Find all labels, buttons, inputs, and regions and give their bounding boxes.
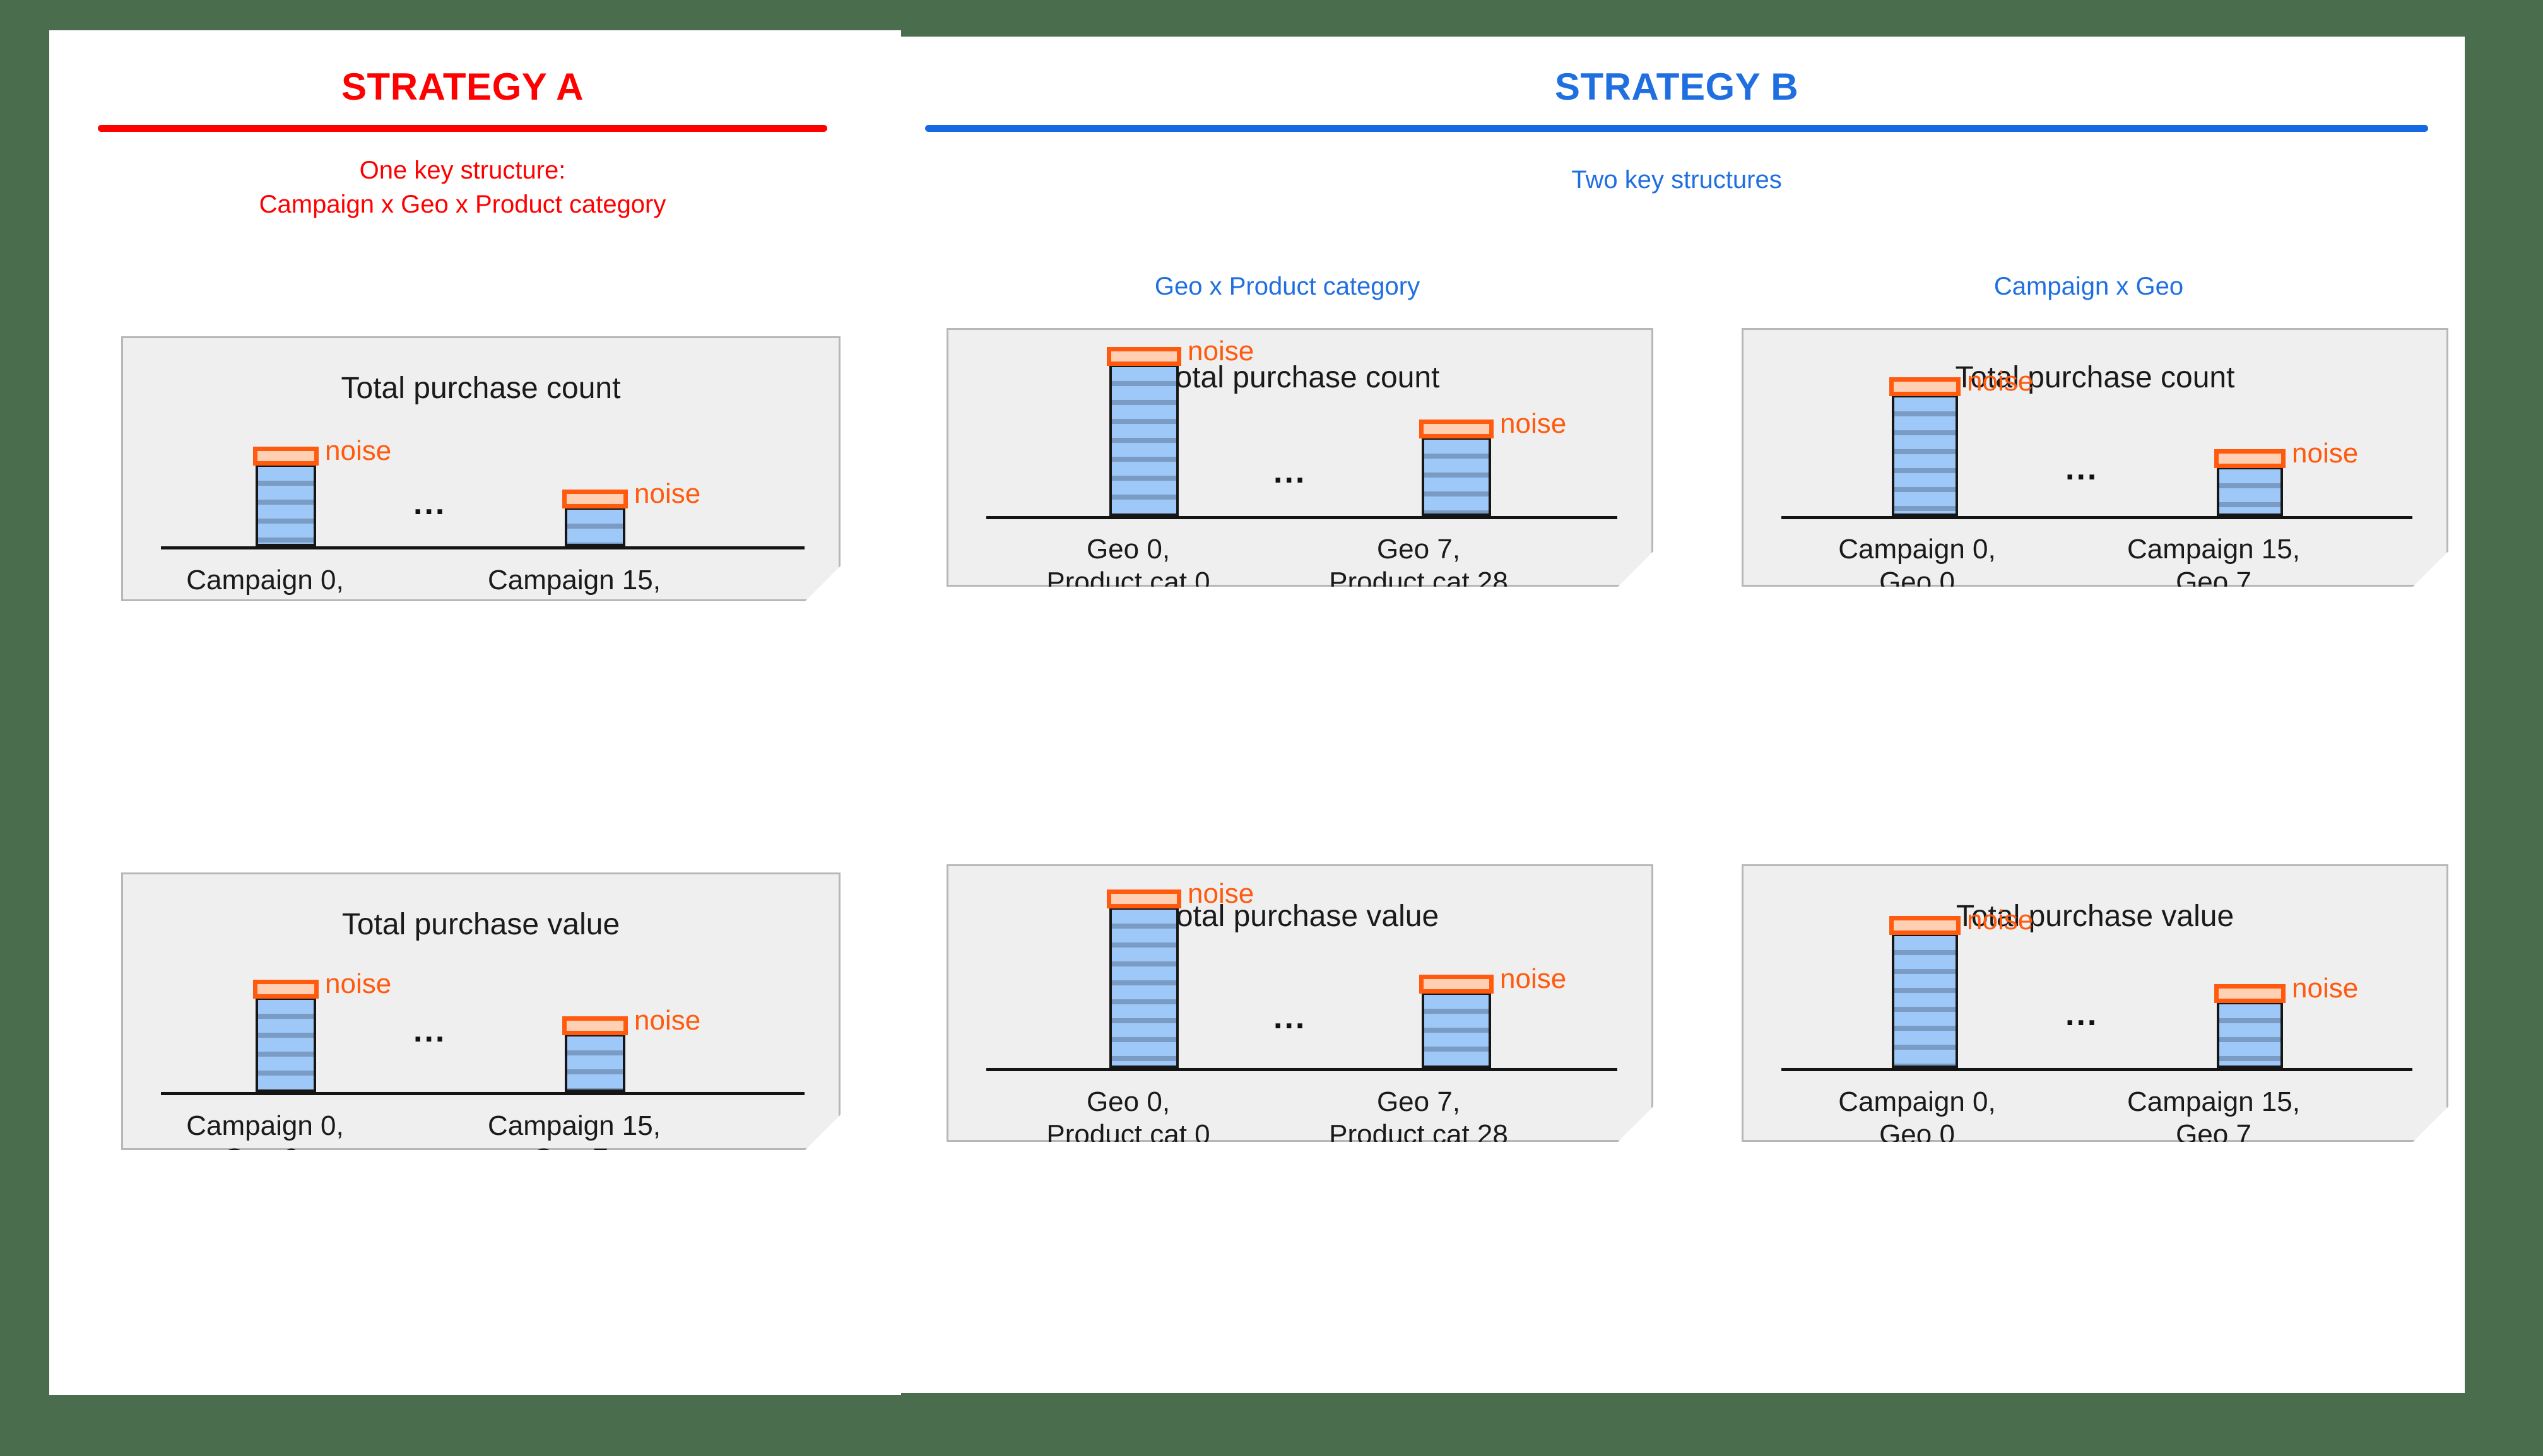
chart-baseline [161, 1092, 805, 1095]
bar-group: noise [2217, 1002, 2283, 1068]
bar-ellipsis: ... [1273, 453, 1306, 491]
noise-label: noise [1967, 366, 2033, 397]
strategy-b-divider [925, 125, 2428, 132]
bar-chart: noisenoise...Geo 0, Product cat 0Geo 7, … [986, 866, 1617, 1144]
chart-baseline [1781, 1068, 2412, 1071]
bar-chart: noisenoise...Campaign 0, Geo 0, Product … [161, 874, 805, 1152]
noise-cap [562, 490, 628, 508]
noise-label: noise [634, 1005, 700, 1036]
strategy-a-panel [49, 30, 901, 1395]
noise-label: noise [1188, 878, 1254, 910]
noise-label: noise [1188, 336, 1254, 367]
noise-cap [1419, 420, 1494, 438]
substructure-label-geo-product: Geo x Product category [940, 273, 1634, 301]
noise-cap [1419, 975, 1494, 994]
chart-baseline [1781, 516, 2412, 519]
signal-bar [1109, 907, 1179, 1068]
signal-bar [256, 997, 316, 1092]
metric-card-b2-count[interactable]: Total purchase countnoisenoise...Campaig… [1742, 328, 2448, 587]
noise-cap [253, 447, 319, 466]
bar-group: noise [256, 997, 316, 1092]
metric-card-a-value[interactable]: Total purchase valuenoisenoise...Campaig… [121, 872, 841, 1150]
bar-group: noise [1892, 934, 1958, 1068]
noise-label: noise [1500, 408, 1566, 440]
noise-cap [2214, 449, 2286, 468]
axis-tick-label-left: Geo 0, Product cat 0 [993, 1086, 1264, 1151]
bar-ellipsis: ... [413, 484, 446, 522]
bar-group: noise [2217, 467, 2283, 516]
signal-bar [256, 464, 316, 546]
strategy-b-subtitle: Two key structures [925, 163, 2428, 197]
signal-bar [2217, 467, 2283, 516]
axis-tick-label-right: Campaign 15, Geo 7 [2072, 1086, 2356, 1151]
bar-chart: noisenoise...Campaign 0, Geo 0, Product … [161, 338, 805, 603]
metric-card-b1-value[interactable]: Total purchase valuenoisenoise...Geo 0, … [947, 864, 1653, 1142]
noise-cap [1889, 377, 1961, 396]
strategy-b-title: STRATEGY B [925, 65, 2428, 109]
bar-group: noise [1422, 437, 1491, 516]
noise-cap [2214, 984, 2286, 1003]
bar-group: noise [1892, 395, 1958, 516]
metric-card-b2-value[interactable]: Total purchase valuenoisenoise...Campaig… [1742, 864, 2448, 1142]
bar-group: noise [1109, 365, 1179, 516]
noise-label: noise [2292, 438, 2358, 469]
chart-baseline [161, 546, 805, 549]
bar-chart: noisenoise...Geo 0, Product cat 0Geo 7, … [986, 330, 1617, 589]
noise-label: noise [2292, 973, 2358, 1004]
signal-bar [1422, 992, 1491, 1068]
signal-bar [1422, 437, 1491, 516]
signal-bar [1109, 365, 1179, 516]
substructure-label-campaign-geo: Campaign x Geo [1742, 273, 2436, 301]
signal-bar [1892, 934, 1958, 1068]
strategy-a-subtitle: One key structure: Campaign x Geo x Prod… [98, 153, 827, 221]
bar-group: noise [1109, 907, 1179, 1068]
bar-group: noise [1422, 992, 1491, 1068]
strategy-a-divider [98, 125, 827, 132]
bar-ellipsis: ... [2065, 995, 2098, 1033]
noise-label: noise [1500, 963, 1566, 995]
noise-label: noise [634, 478, 700, 510]
metric-card-b1-count[interactable]: Total purchase countnoisenoise...Geo 0, … [947, 328, 1653, 587]
bar-group: noise [565, 507, 625, 546]
bar-chart: noisenoise...Campaign 0, Geo 0Campaign 1… [1781, 866, 2412, 1144]
noise-cap [1107, 347, 1181, 366]
bar-group: noise [565, 1034, 625, 1092]
signal-bar [565, 507, 625, 546]
chart-baseline [986, 1068, 1617, 1071]
bar-ellipsis: ... [2065, 450, 2098, 488]
chart-baseline [986, 516, 1617, 519]
bar-chart: noisenoise...Campaign 0, Geo 0Campaign 1… [1781, 330, 2412, 589]
noise-cap [562, 1016, 628, 1035]
signal-bar [1892, 395, 1958, 516]
bar-ellipsis: ... [1273, 999, 1306, 1036]
axis-tick-label-right: Geo 7, Product cat 28 [1283, 1086, 1554, 1151]
signal-bar [2217, 1002, 2283, 1068]
noise-label: noise [325, 968, 391, 1000]
bar-ellipsis: ... [413, 1012, 446, 1050]
axis-tick-label-left: Campaign 0, Geo 0 [1775, 1086, 2059, 1151]
metric-card-a-count[interactable]: Total purchase countnoisenoise...Campaig… [121, 336, 841, 601]
noise-cap [1107, 889, 1181, 908]
noise-cap [1889, 916, 1961, 935]
strategy-b-panel [901, 37, 2465, 1393]
noise-label: noise [325, 435, 391, 467]
noise-cap [253, 980, 319, 999]
bar-group: noise [256, 464, 316, 546]
signal-bar [565, 1034, 625, 1092]
strategy-a-title: STRATEGY A [98, 65, 827, 109]
noise-label: noise [1967, 905, 2033, 936]
